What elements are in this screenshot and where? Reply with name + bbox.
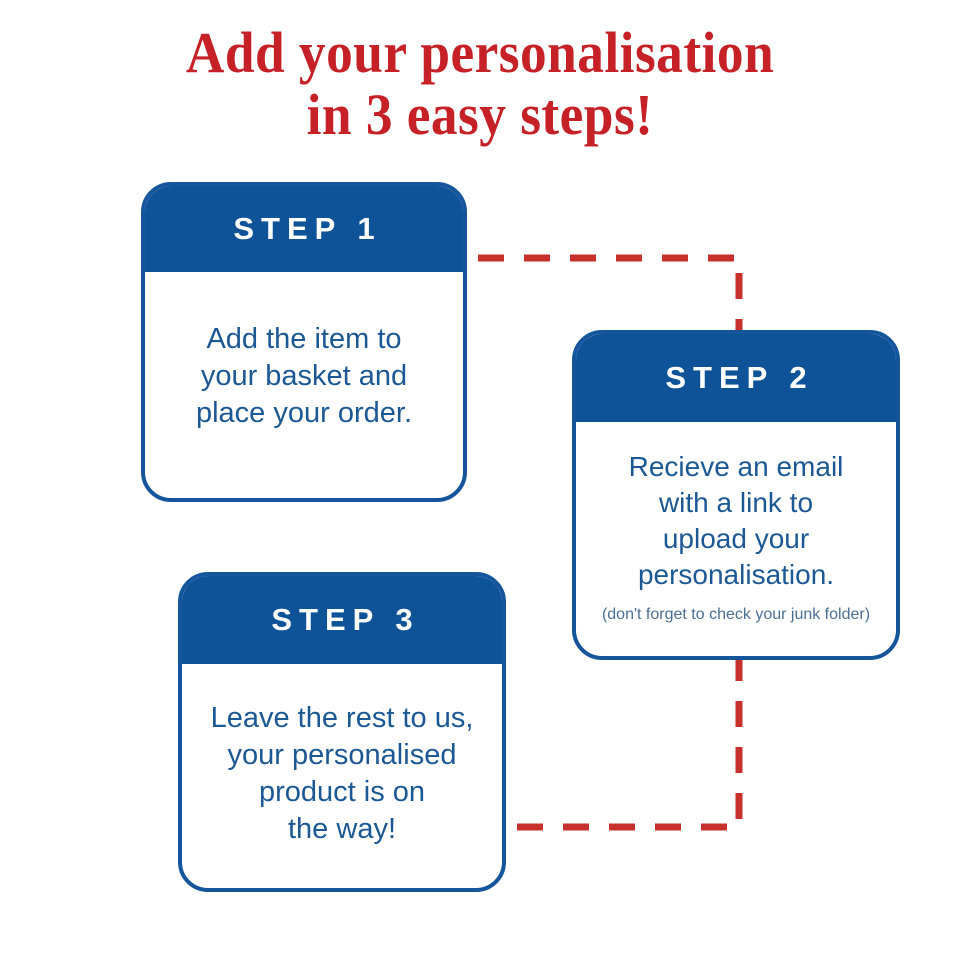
connector-step-2-to-step-3 <box>516 655 739 827</box>
step-1-text-line-1: Add the item to <box>206 323 401 355</box>
infographic-canvas: Add your personalisation in 3 easy steps… <box>0 0 960 960</box>
step-card-1: STEP 1 Add the item to your basket and p… <box>141 182 467 502</box>
step-2-text: Recieve an email with a link to upload y… <box>629 449 844 593</box>
step-2-body: Recieve an email with a link to upload y… <box>576 422 896 656</box>
connector-step-1-to-step-2 <box>478 258 739 332</box>
page-title-line-1: Add your personalisation <box>38 22 921 84</box>
page-title: Add your personalisation in 3 easy steps… <box>38 22 921 146</box>
step-1-text: Add the item to your basket and place yo… <box>196 321 412 432</box>
step-3-text-line-3: product is on <box>259 776 425 808</box>
step-card-3: STEP 3 Leave the rest to us, your person… <box>178 572 506 892</box>
step-2-text-line-4: personalisation. <box>638 559 834 590</box>
step-1-text-line-2: your basket and <box>201 360 407 392</box>
step-2-text-line-1: Recieve an email <box>629 451 844 482</box>
step-3-text: Leave the rest to us, your personalised … <box>211 700 474 848</box>
page-title-line-2: in 3 easy steps! <box>38 84 921 146</box>
step-2-text-line-2: with a link to <box>659 487 813 518</box>
step-3-header: STEP 3 <box>182 576 502 664</box>
step-2-note: (don't forget to check your junk folder) <box>602 605 870 625</box>
step-2-header: STEP 2 <box>576 334 896 422</box>
step-3-text-line-4: the way! <box>288 813 396 845</box>
step-3-text-line-2: your personalised <box>228 739 457 771</box>
step-3-body: Leave the rest to us, your personalised … <box>182 664 502 888</box>
step-3-text-line-1: Leave the rest to us, <box>211 702 474 734</box>
step-1-text-line-3: place your order. <box>196 397 412 429</box>
step-card-2: STEP 2 Recieve an email with a link to u… <box>572 330 900 660</box>
step-1-header: STEP 1 <box>145 186 463 272</box>
step-1-body: Add the item to your basket and place yo… <box>145 272 463 498</box>
step-2-text-line-3: upload your <box>663 523 809 554</box>
